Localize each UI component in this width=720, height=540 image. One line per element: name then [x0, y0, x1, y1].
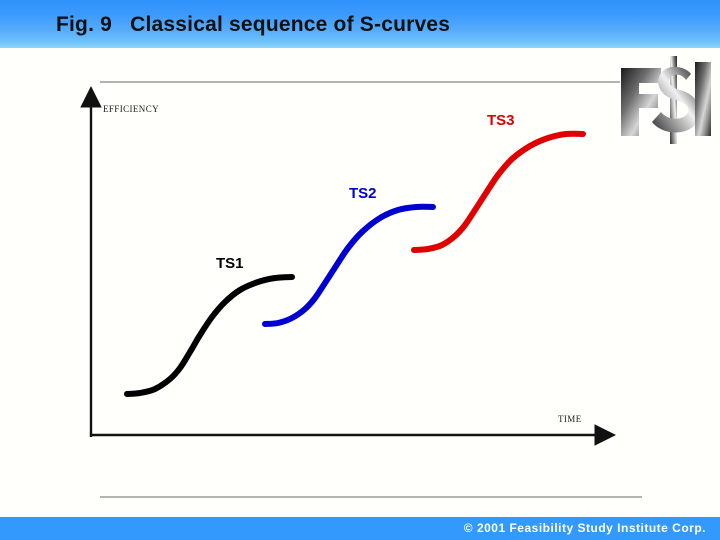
bottom-divider [100, 496, 642, 498]
chart-svg [0, 0, 720, 540]
curve-group [127, 134, 583, 394]
copyright-text: © 2001 Feasibility Study Institute Corp. [464, 521, 706, 535]
x-axis-label: TIME [558, 414, 582, 424]
curve-ts2 [265, 207, 433, 324]
curve-ts3 [414, 134, 583, 250]
s-curve-chart: EFFICIENCY TIME TS1 TS2 TS3 [0, 0, 720, 540]
curve-label-ts2: TS2 [349, 185, 377, 202]
curve-label-ts1: TS1 [216, 255, 244, 272]
curve-ts1 [127, 277, 292, 394]
y-axis-label: EFFICIENCY [103, 104, 159, 114]
curve-label-ts3: TS3 [487, 112, 515, 129]
slide-canvas: Fig. 9 Classical sequence of S-curves [0, 0, 720, 540]
